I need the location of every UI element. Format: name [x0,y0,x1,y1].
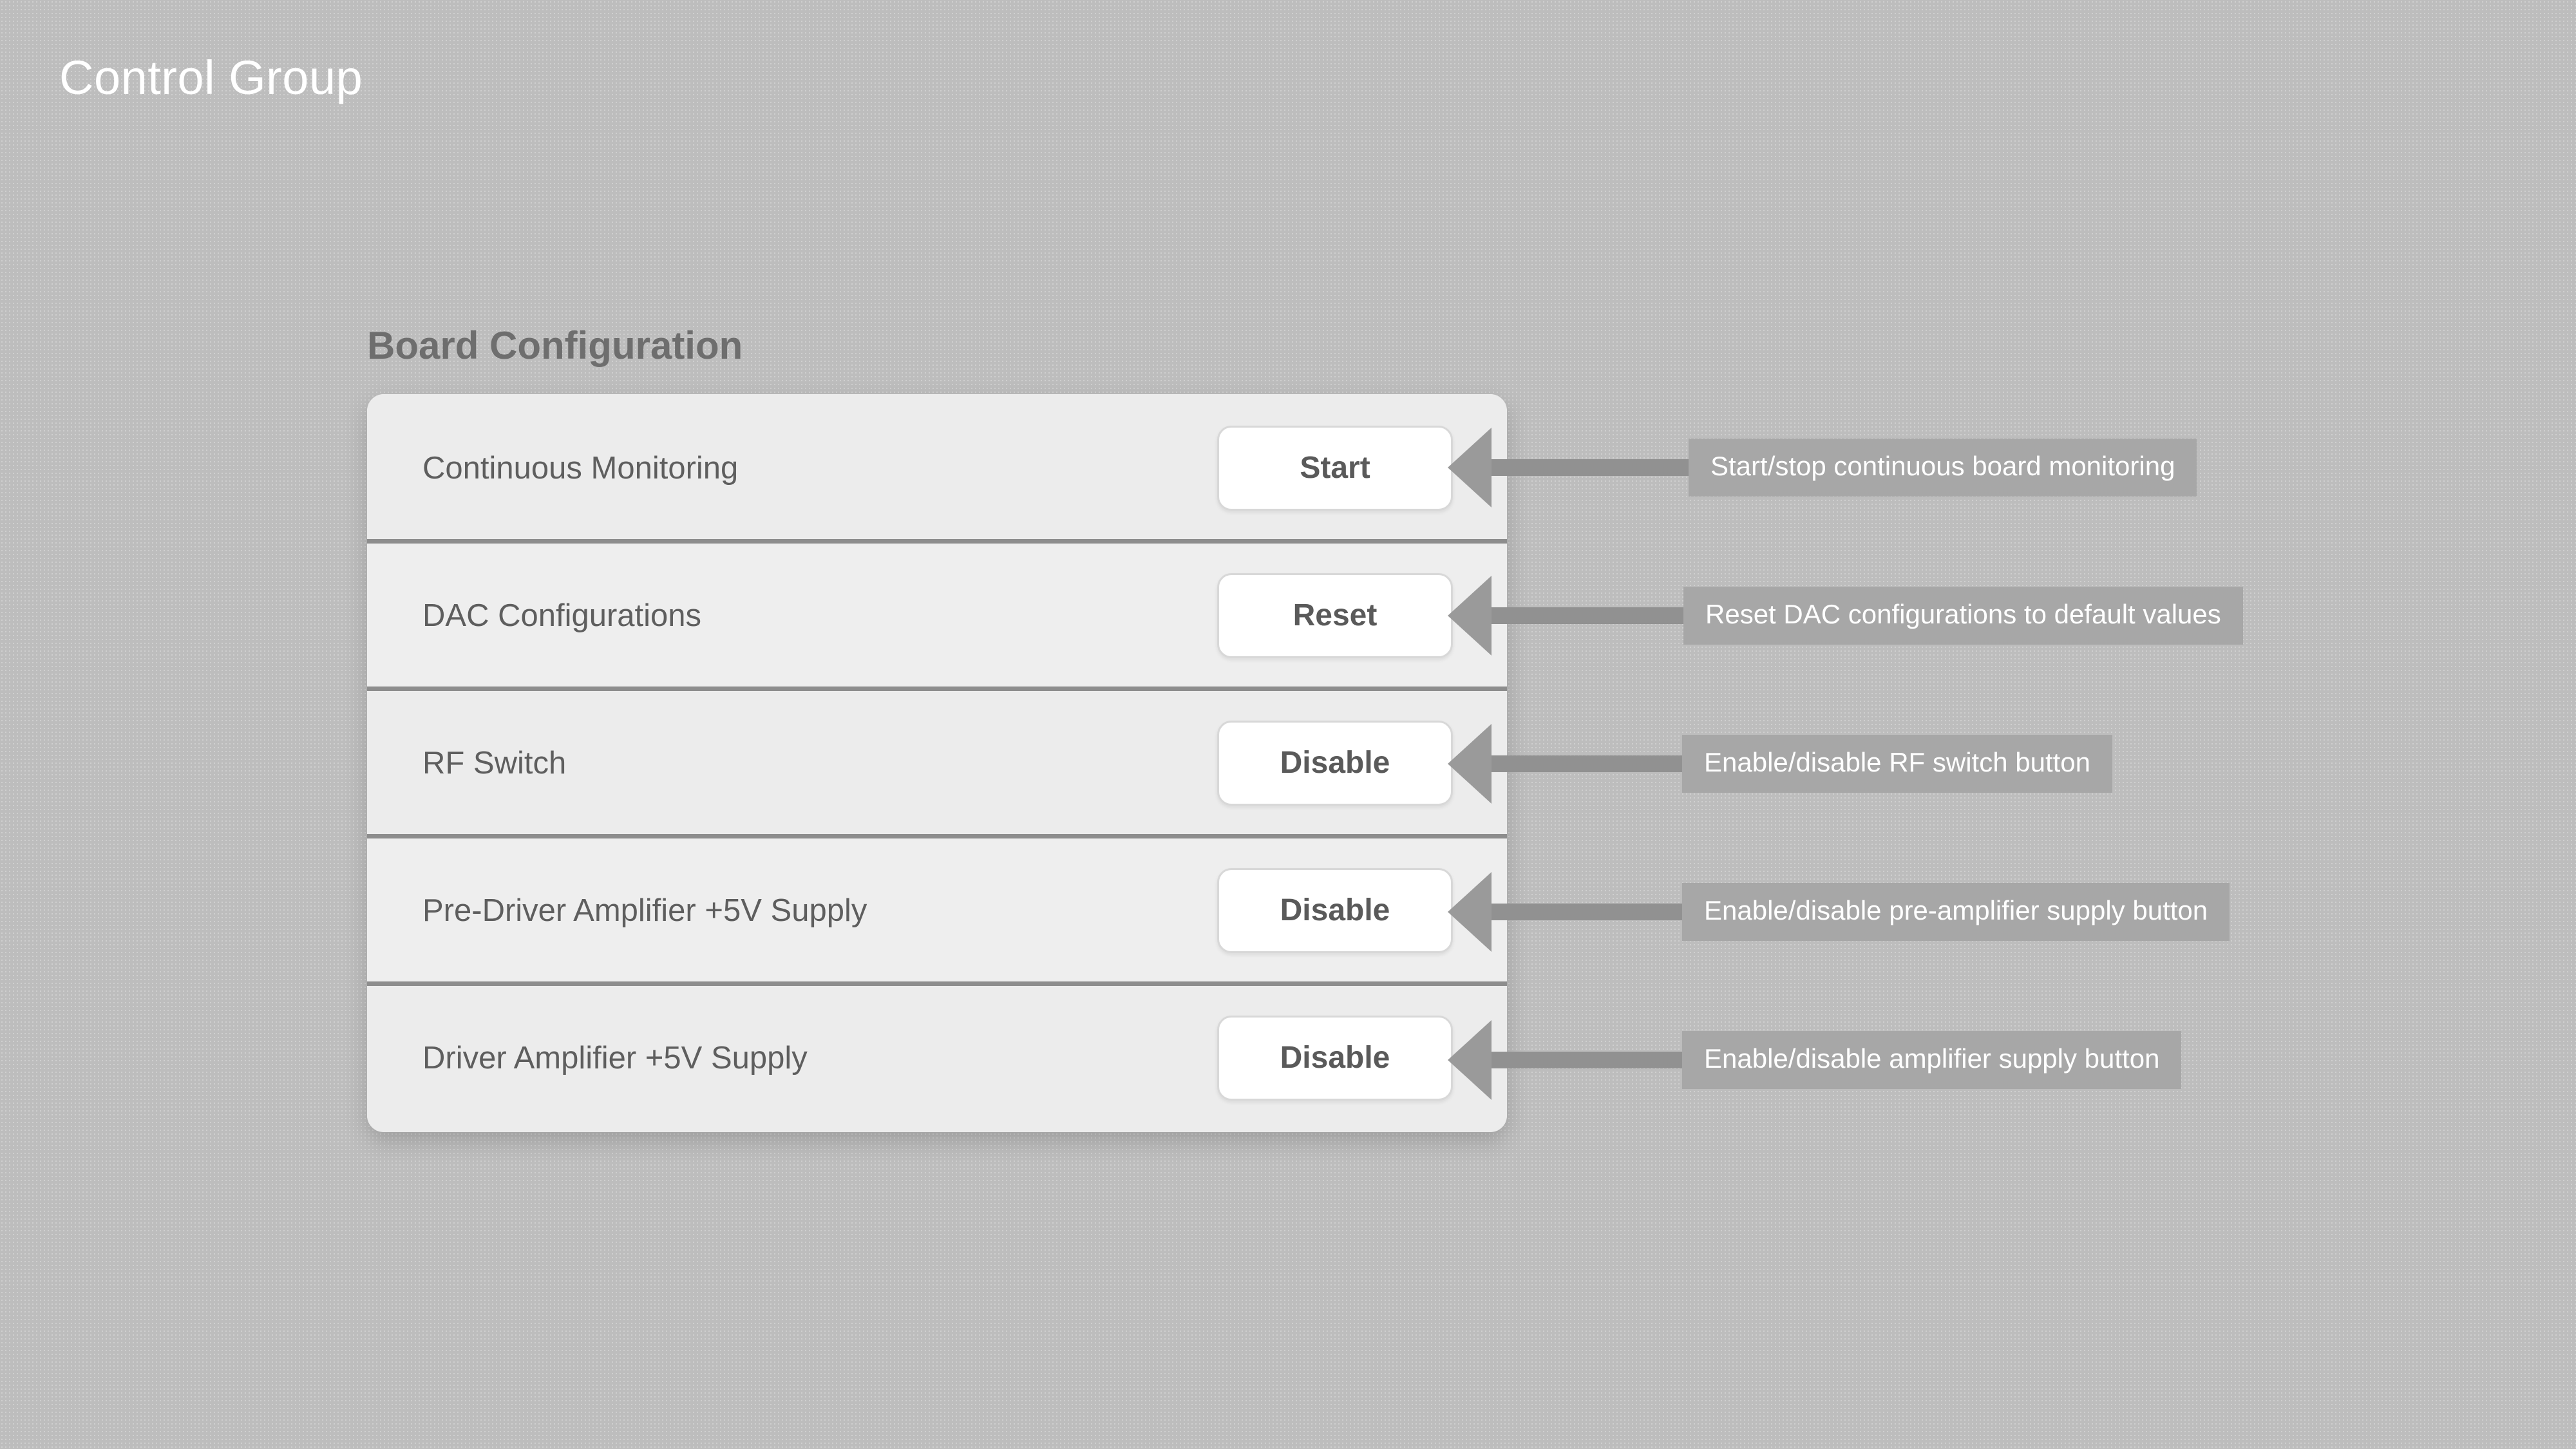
row-label: Continuous Monitoring [422,450,1217,486]
row-label: Pre-Driver Amplifier +5V Supply [422,893,1217,929]
rf-switch-button[interactable]: Disable [1217,721,1453,806]
arrow-shaft [1492,459,1689,476]
arrow-left-icon [1448,576,1492,656]
board-configuration-card: Continuous Monitoring Start DAC Configur… [367,394,1507,1132]
arrow-left-icon [1448,872,1492,952]
arrow-shaft [1492,607,1683,624]
control-row-driver-amplifier-supply: Driver Amplifier +5V Supply Disable [367,984,1507,1132]
control-row-dac-configurations: DAC Configurations Reset [367,542,1507,689]
arrow-left-icon [1448,724,1492,804]
driver-amplifier-supply-button[interactable]: Disable [1217,1016,1453,1101]
arrow-shaft [1492,904,1682,920]
arrow-shaft [1492,755,1682,772]
arrow-left-icon [1448,1020,1492,1100]
callout-text: Enable/disable amplifier supply button [1682,1031,2181,1089]
row-label: RF Switch [422,745,1217,781]
dac-configurations-reset-button[interactable]: Reset [1217,573,1453,658]
row-label: DAC Configurations [422,598,1217,634]
control-row-continuous-monitoring: Continuous Monitoring Start [367,394,1507,542]
callout-text: Start/stop continuous board monitoring [1689,439,2197,497]
page-title: Control Group [59,50,363,105]
callout-text: Reset DAC configurations to default valu… [1683,587,2243,645]
row-label: Driver Amplifier +5V Supply [422,1040,1217,1076]
control-row-rf-switch: RF Switch Disable [367,689,1507,837]
arrow-shaft [1492,1052,1682,1068]
control-row-pre-driver-amplifier-supply: Pre-Driver Amplifier +5V Supply Disable [367,837,1507,984]
callout-text: Enable/disable pre-amplifier supply butt… [1682,883,2230,941]
arrow-left-icon [1448,428,1492,507]
callout-text: Enable/disable RF switch button [1682,735,2112,793]
pre-driver-amplifier-supply-button[interactable]: Disable [1217,868,1453,953]
continuous-monitoring-button[interactable]: Start [1217,426,1453,511]
section-header-board-configuration: Board Configuration [367,323,743,368]
